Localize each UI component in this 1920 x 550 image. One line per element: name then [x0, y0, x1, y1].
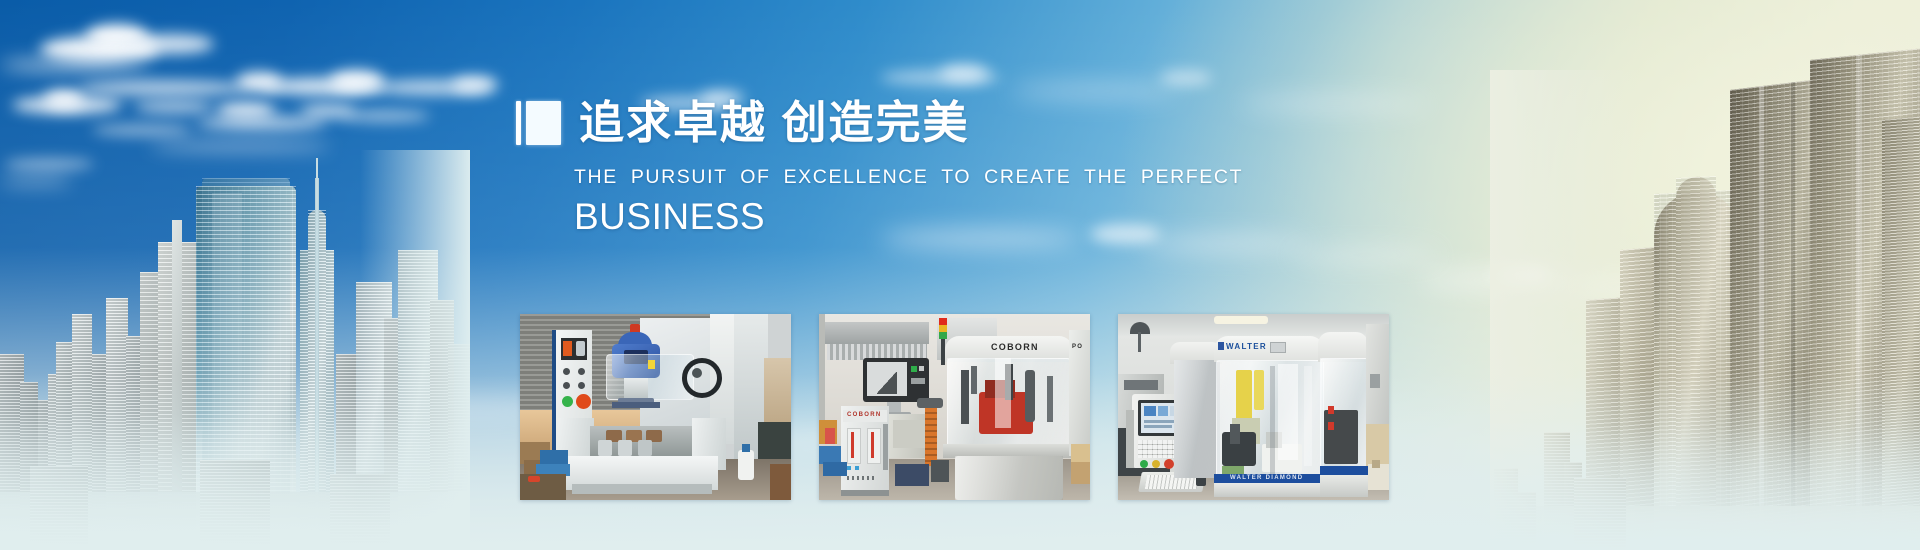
photo-walter-machine[interactable]: WALTER	[1118, 314, 1389, 500]
headline-chinese: 追求卓越 创造完美	[579, 98, 970, 148]
business-word: BUSINESS	[574, 196, 1276, 238]
banner-copy: 追求卓越 创造完美 THE PURSUIT OF EXCELLENCE TO C…	[516, 96, 1276, 238]
hero-banner: 追求卓越 创造完美 THE PURSUIT OF EXCELLENCE TO C…	[0, 0, 1920, 550]
bar-and-square-mark-icon	[516, 101, 561, 145]
machine-photo-strip: COBORN COBORN	[520, 314, 1389, 500]
photo-coborn-machine[interactable]: COBORN COBORN	[819, 314, 1090, 500]
headline-row: 追求卓越 创造完美	[516, 96, 1276, 150]
photo-cnc-grinding-machine[interactable]	[520, 314, 791, 500]
subtitle-english: THE PURSUIT OF EXCELLENCE TO CREATE THE …	[574, 166, 1276, 189]
